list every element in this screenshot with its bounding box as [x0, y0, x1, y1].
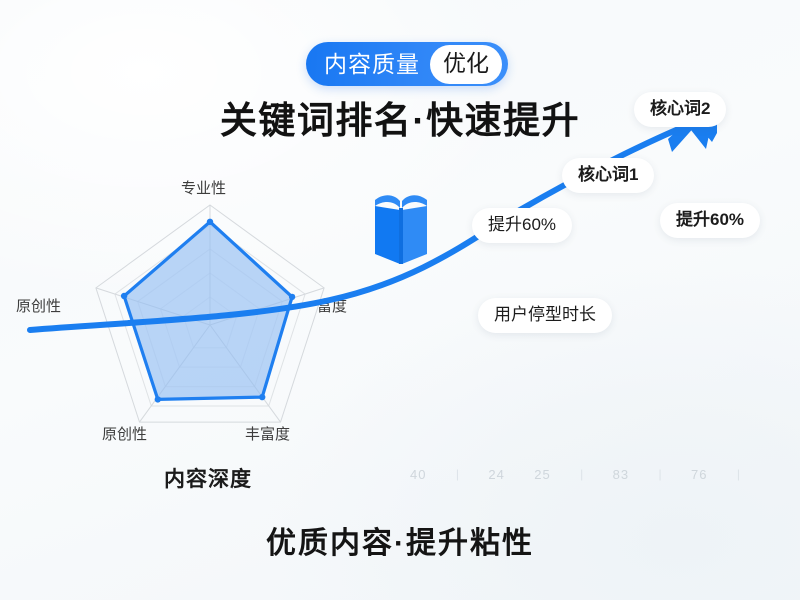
axis-number: 83 — [613, 467, 629, 482]
radar-axis-label-3: 原创性 — [102, 423, 147, 444]
pill-label: 核心词2 — [650, 99, 710, 118]
page-subtitle: 优质内容·提升粘性 — [0, 518, 800, 562]
axis-number: 40 — [410, 467, 426, 482]
axis-tick: | — [737, 467, 740, 481]
pill-label: 核心词1 — [578, 165, 638, 184]
badge-main-label: 内容质量 — [324, 53, 430, 76]
radar-axis-label-0: 专业性 — [181, 177, 226, 198]
poster-canvas: 内容质量 优化 关键词排名·快速提升 优质内容·提升粘性 — [0, 0, 800, 600]
axis-number: 76 — [691, 467, 707, 482]
pill-increase-60-left[interactable]: 提升60% — [472, 208, 572, 243]
axis-tick: | — [580, 467, 583, 481]
axis-number: 25 — [534, 467, 550, 482]
radar-chart: 专业性 富度 丰富度 原创性 原创性 — [40, 185, 380, 465]
pill-user-dwell-time[interactable]: 用户停型时长 — [478, 298, 612, 333]
radar-series-area — [124, 222, 292, 400]
axis-tick: | — [658, 467, 661, 481]
pill-core-keyword-2[interactable]: 核心词2 — [634, 92, 726, 127]
pill-label: 提升60% — [488, 215, 556, 234]
pill-increase-60-right[interactable]: 提升60% — [660, 203, 760, 238]
pill-core-keyword-1[interactable]: 核心词1 — [562, 158, 654, 193]
badge-pill-label: 优化 — [430, 45, 502, 84]
pill-label: 提升60% — [676, 210, 744, 229]
radar-axis-label-1: 富度 — [317, 295, 347, 316]
pill-label: 用户停型时长 — [494, 305, 596, 324]
open-book-icon — [372, 188, 430, 270]
content-quality-badge[interactable]: 内容质量 优化 — [306, 42, 508, 86]
axis-number: 24 — [488, 467, 504, 482]
radar-axis-label-4: 原创性 — [16, 295, 61, 316]
axis-tick: | — [456, 467, 459, 481]
radar-chart-svg — [40, 185, 380, 465]
content-depth-label: 内容深度 — [164, 463, 252, 493]
radar-axis-label-2: 丰富度 — [245, 423, 290, 444]
axis-number-strip: 40 | 24 25 | 83 | 76 | — [410, 462, 740, 486]
